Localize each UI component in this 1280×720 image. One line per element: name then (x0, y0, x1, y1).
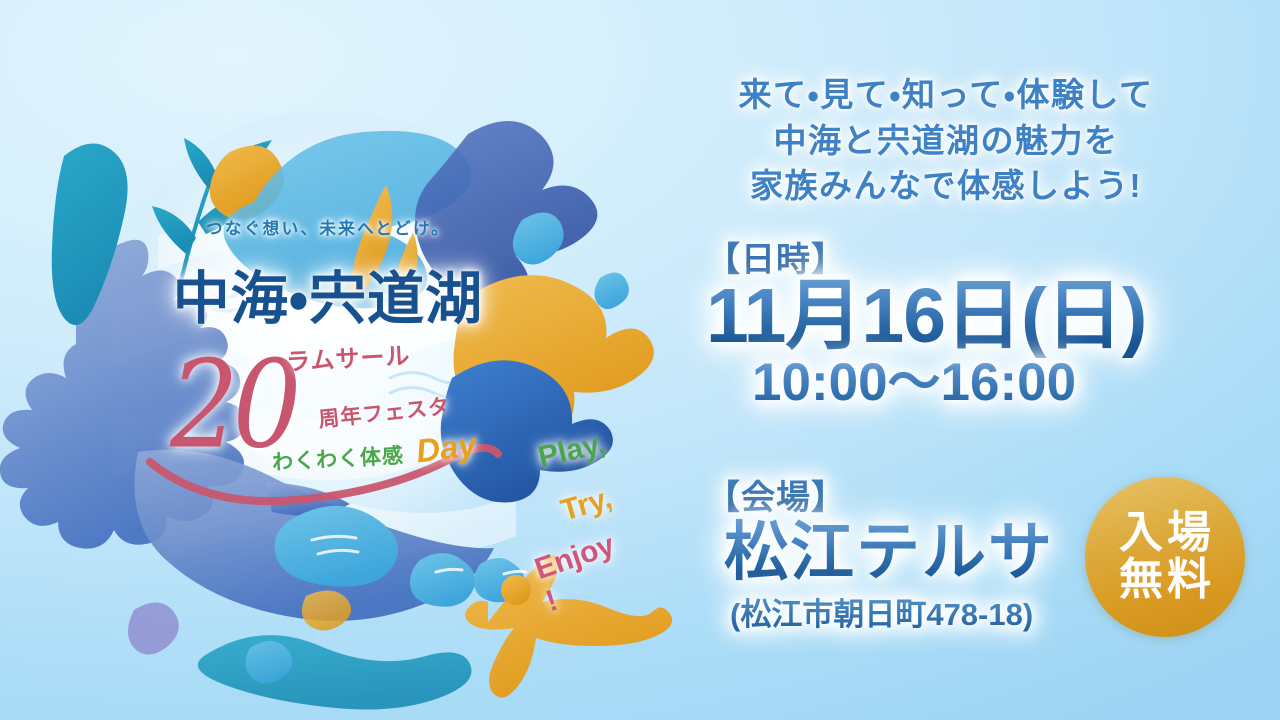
headline-line-2: 中海と宍道湖の魅力を (660, 118, 1232, 164)
blob-violet-small (128, 602, 179, 654)
headline-line-1: 来て・見て・知って・体験して (660, 72, 1232, 118)
venue-label: 【会場】 (706, 470, 1054, 519)
free-admission-badge: 入場 無料 (1085, 477, 1245, 637)
free-admission-line-2: 無料 (1115, 557, 1215, 604)
venue-block: 【会場】 松江テルサ (松江市朝日町478-18) (706, 470, 1054, 634)
event-logo-mark: つなぐ想い、未来へとどけ。 中海・宍道湖 20 ラムサール 周年フェスタ わくわ… (18, 48, 638, 674)
event-time: 10:00〜16:00 (706, 354, 1146, 412)
venue-address: (松江市朝日町478-18) (706, 589, 1054, 634)
blob-aqua-bottom (198, 635, 472, 709)
event-info-panel: 来て・見て・知って・体験して 中海と宍道湖の魅力を 家族みんなで体感しよう! 【… (660, 0, 1280, 720)
datetime-block: 【日時】 11月16日(日) 10:00〜16:00 (706, 232, 1146, 412)
headline-line-3: 家族みんなで体感しよう! (660, 163, 1232, 209)
person-head-gold (501, 575, 531, 605)
event-date: 11月16日(日) (706, 275, 1146, 358)
free-admission-line-1: 入場 (1115, 510, 1215, 557)
venue-name: 松江テルサ (706, 517, 1054, 589)
blob-sky-dot-right2 (594, 272, 628, 309)
event-headline: 来て・見て・知って・体験して 中海と宍道湖の魅力を 家族みんなで体感しよう! (660, 72, 1232, 209)
event-poster: つなぐ想い、未来へとどけ。 中海・宍道湖 20 ラムサール 周年フェスタ わくわ… (0, 0, 1280, 720)
blob-gold-bottom (302, 590, 351, 630)
